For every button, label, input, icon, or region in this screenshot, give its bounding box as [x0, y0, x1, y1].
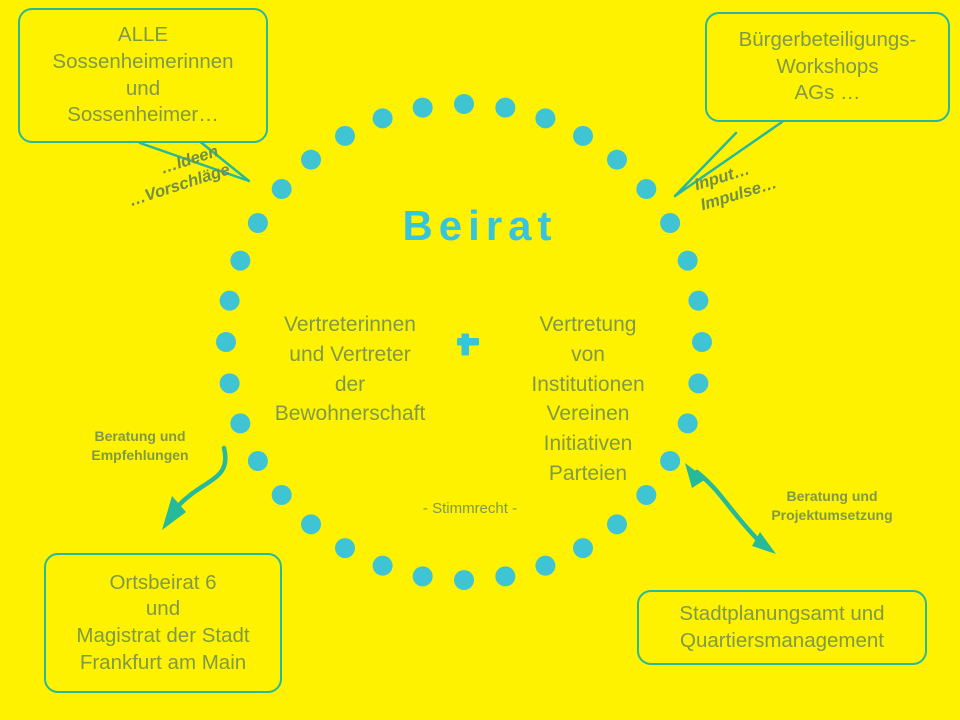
callout-line: Ortsbeirat 6	[46, 570, 280, 597]
callout-line: Magistrat der Stadt	[46, 623, 280, 650]
callout-alle-sossenheimer: ALLE Sossenheimerinnen und Sossenheimer…	[18, 8, 268, 143]
callout-ortsbeirat: Ortsbeirat 6 und Magistrat der Stadt Fra…	[44, 553, 282, 693]
label-beratung-empfehlungen: Beratung und Empfehlungen	[70, 427, 210, 465]
callout-line: Stadtplanungsamt und	[639, 601, 925, 628]
center-right-line: Vertretung	[494, 310, 682, 340]
center-right-line: Parteien	[494, 459, 682, 489]
diagram-text-layer: Beirat Vertreterinnen und Vertreter der …	[0, 0, 960, 720]
callout-line: und	[46, 596, 280, 623]
callout-line: Sossenheimer…	[20, 102, 266, 129]
center-left-line: der	[256, 370, 444, 400]
label-line: Empfehlungen	[70, 446, 210, 465]
label-line: Projektumsetzung	[742, 506, 922, 525]
callout-line: Workshops	[707, 54, 948, 81]
callout-stadtplanungsamt: Stadtplanungsamt und Quartiersmanagement	[637, 590, 927, 665]
callout-line: Bürgerbeteiligungs-	[707, 27, 948, 54]
center-right-line: Initiativen	[494, 429, 682, 459]
label-line: Beratung und	[70, 427, 210, 446]
center-right-column: Vertretung von Institutionen Vereinen In…	[494, 310, 682, 489]
center-left-line: Bewohnerschaft	[256, 399, 444, 429]
center-right-line: von	[494, 340, 682, 370]
callout-line: Quartiersmanagement	[639, 628, 925, 655]
center-right-line: Vereinen	[494, 399, 682, 429]
page-title: Beirat	[0, 202, 960, 250]
callout-buergerbeteiligung: Bürgerbeteiligungs- Workshops AGs …	[705, 12, 950, 122]
diagram-canvas: Beirat Vertreterinnen und Vertreter der …	[0, 0, 960, 720]
center-right-line: Institutionen	[494, 370, 682, 400]
center-left-column: Vertreterinnen und Vertreter der Bewohne…	[256, 310, 444, 429]
callout-line: AGs …	[707, 80, 948, 107]
callout-line: ALLE	[20, 22, 266, 49]
callout-line: Sossenheimerinnen	[20, 49, 266, 76]
label-line: Beratung und	[742, 487, 922, 506]
callout-line: Frankfurt am Main	[46, 650, 280, 677]
center-left-line: Vertreterinnen	[256, 310, 444, 340]
callout-line: und	[20, 76, 266, 103]
center-left-line: und Vertreter	[256, 340, 444, 370]
label-beratung-projektumsetzung: Beratung und Projektumsetzung	[742, 487, 922, 525]
stimmrecht-footnote: - Stimmrecht -	[330, 500, 610, 517]
